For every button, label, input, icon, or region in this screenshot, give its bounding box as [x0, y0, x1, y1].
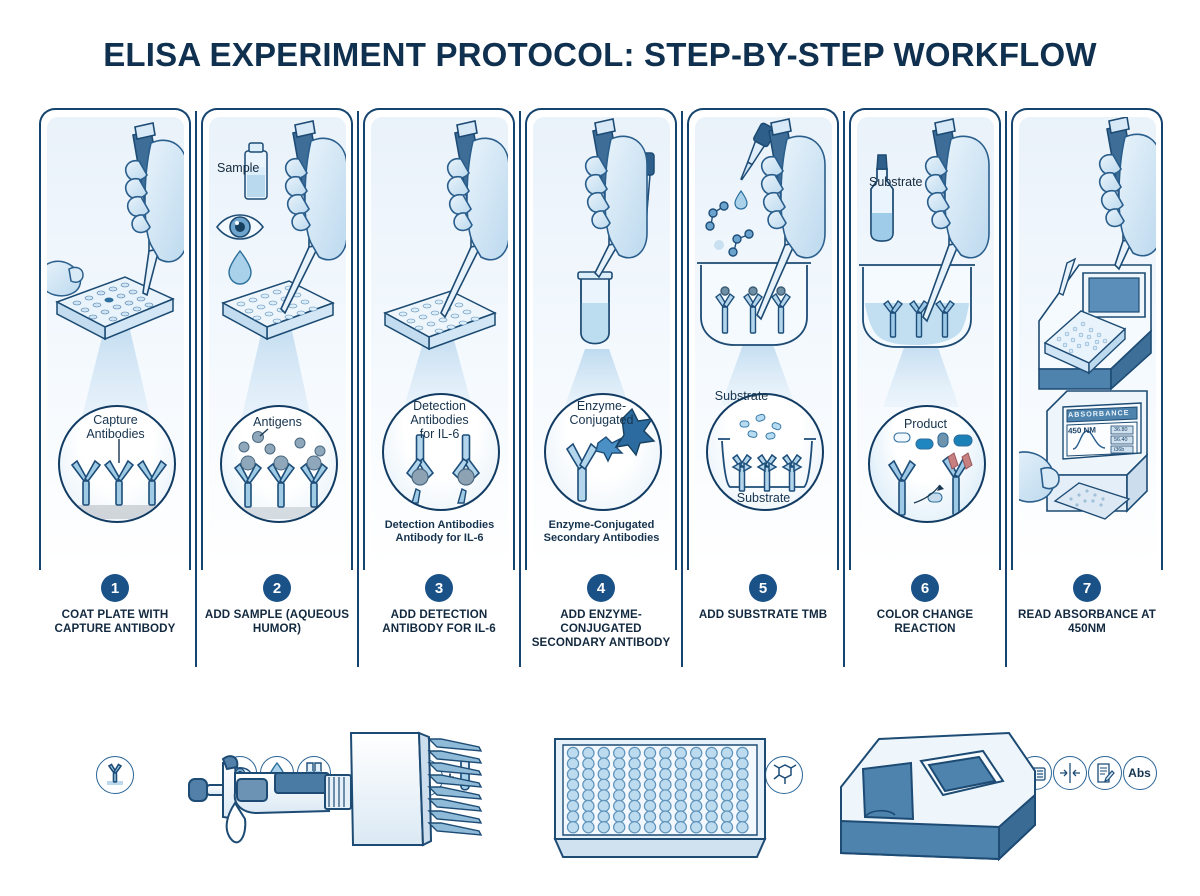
step-panel-5[interactable]: Substrate Substrate 5 ADD SUBSTRATE TMB: [682, 108, 844, 698]
step-3-circle-label: DetectionAntibodiesfor IL-6: [371, 399, 508, 441]
plate-reader-spectrophotometer: [833, 723, 1043, 873]
panel-card: CaptureAntibodies: [47, 117, 184, 569]
step-6-top-label: Substrate: [869, 175, 923, 189]
absorbance-readout-2: 56.40: [1114, 437, 1128, 443]
panel-card: Sample: [209, 117, 346, 569]
step-badge-3: 3: [425, 574, 453, 602]
step-5-circle-label-bottom: Substrate: [695, 491, 832, 505]
step-6-circle-label: Product: [857, 417, 994, 431]
panel-card: Substrate: [857, 117, 994, 569]
multichannel-pipette: [157, 711, 487, 886]
step-caption-7: READ ABSORBANCE AT 450NM: [1008, 608, 1166, 636]
step-panel-3[interactable]: DetectionAntibodiesfor IL-6 Detection An…: [358, 108, 520, 698]
step-badge-6: 6: [911, 574, 939, 602]
step-2-circle-label: Antigens: [209, 415, 346, 429]
step-caption-2: ADD SAMPLE (AQUEOUS HUMOR): [198, 608, 356, 636]
absorbance-wavelength: 450 NM: [1068, 426, 1096, 436]
step-badge-1: 1: [101, 574, 129, 602]
step-4-under-label: Enzyme-ConjugatedSecondary Antibodies: [533, 519, 670, 545]
step-badge-5: 5: [749, 574, 777, 602]
step-4-circle-label: Enzyme-Conjugated: [533, 399, 670, 427]
step-7-illustration: [1019, 117, 1156, 569]
step-caption-5: ADD SUBSTRATE TMB: [684, 608, 842, 622]
absorbance-readout-1: 36.80: [1114, 427, 1128, 433]
steps-row: CaptureAntibodies 1 COAT PLATE WITH CAPT…: [34, 108, 1166, 698]
step-caption-3: ADD DETECTION ANTIBODY FOR IL-6: [360, 608, 518, 636]
step-badge-7: 7: [1073, 574, 1101, 602]
panel-card: Enzyme-Conjugated Enzyme-ConjugatedSecon…: [533, 117, 670, 569]
absorbance-readout-3: i36b: [1114, 447, 1124, 453]
step-caption-4: ADD ENZYME-CONJUGATED SECONDARY ANTIBODY: [522, 608, 680, 650]
bottom-equipment-row: [0, 700, 1200, 896]
page-title: ELISA EXPERIMENT PROTOCOL: STEP-BY-STEP …: [0, 0, 1200, 74]
step-panel-2[interactable]: Sample: [196, 108, 358, 698]
panel-card: ABSORBANCE 450 NM 36.80 56.40 i36b: [1019, 117, 1156, 569]
step-panel-6[interactable]: Substrate: [844, 108, 1006, 698]
step-3-under-label: Detection AntibodiesAntibody for IL-6: [371, 519, 508, 545]
step-panel-4[interactable]: Enzyme-Conjugated Enzyme-ConjugatedSecon…: [520, 108, 682, 698]
step-2-top-label: Sample: [217, 161, 259, 175]
step-caption-6: COLOR CHANGE REACTION: [846, 608, 1004, 636]
panel-card: Substrate Substrate: [695, 117, 832, 569]
step-5-circle-label-top: Substrate: [695, 389, 810, 403]
step-1-circle-label: CaptureAntibodies: [47, 413, 184, 441]
step-panel-7[interactable]: ABSORBANCE 450 NM 36.80 56.40 i36b 7 REA…: [1006, 108, 1168, 698]
96-well-microplate: [547, 721, 773, 876]
step-caption-1: COAT PLATE WITH CAPTURE ANTIBODY: [36, 608, 194, 636]
step-panel-1[interactable]: CaptureAntibodies 1 COAT PLATE WITH CAPT…: [34, 108, 196, 698]
step-badge-2: 2: [263, 574, 291, 602]
panel-card: DetectionAntibodiesfor IL-6 Detection An…: [371, 117, 508, 569]
step-badge-4: 4: [587, 574, 615, 602]
